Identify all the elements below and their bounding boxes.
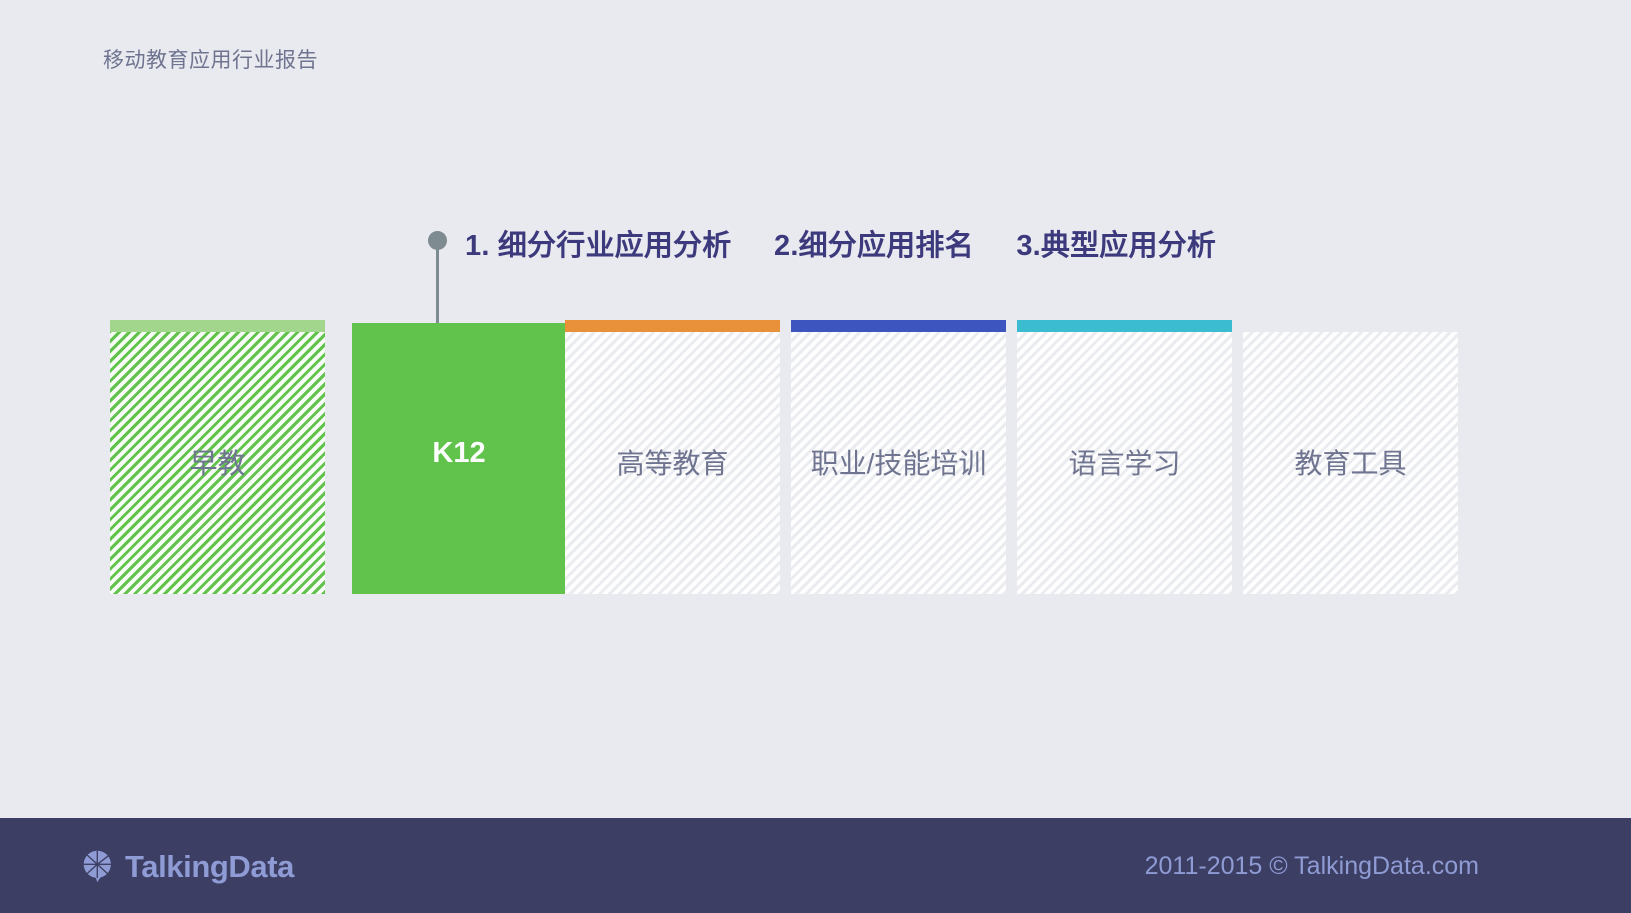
- card-accent-bar: [565, 320, 780, 332]
- card-label: 教育工具: [1243, 442, 1458, 482]
- category-card-education-tools[interactable]: 教育工具: [1243, 332, 1458, 594]
- card-accent-bar: [1017, 320, 1232, 332]
- card-accent-bar: [110, 320, 325, 332]
- talkingdata-logo: TalkingData: [82, 846, 294, 886]
- card-accent-bar: [791, 320, 1006, 332]
- category-card-vocational-training[interactable]: 职业/技能培训: [791, 332, 1006, 594]
- category-card-early-education[interactable]: 早教: [110, 332, 325, 594]
- card-label: 职业/技能培训: [791, 442, 1006, 482]
- slide-canvas: 移动教育应用行业报告 1. 细分行业应用分析 2.细分应用排名 3.典型应用分析…: [0, 0, 1631, 913]
- active-card-pointer: [428, 231, 452, 327]
- card-label: 高等教育: [565, 442, 780, 482]
- card-label: K12: [352, 437, 566, 470]
- pointer-stem: [436, 248, 439, 328]
- logo-wordmark: TalkingData: [125, 851, 294, 882]
- talkingdata-pie-bubble-icon: [82, 849, 116, 883]
- footer-bar: TalkingData 2011-2015 © TalkingData.com: [0, 818, 1631, 913]
- card-label: 早教: [110, 442, 325, 482]
- agenda-item-2: 2.细分应用排名: [774, 222, 974, 264]
- card-label: 语言学习: [1017, 442, 1232, 482]
- category-card-language-learning[interactable]: 语言学习: [1017, 332, 1232, 594]
- agenda-item-1: 1. 细分行业应用分析: [465, 222, 731, 264]
- category-card-higher-education[interactable]: 高等教育: [565, 332, 780, 594]
- agenda-headline: 1. 细分行业应用分析 2.细分应用排名 3.典型应用分析: [465, 222, 1216, 264]
- card-accent-bar: [1243, 320, 1458, 332]
- copyright-text: 2011-2015 © TalkingData.com: [1145, 852, 1479, 881]
- page-title: 移动教育应用行业报告: [103, 44, 318, 74]
- category-card-k12[interactable]: K12: [352, 323, 566, 594]
- agenda-item-3: 3.典型应用分析: [1016, 222, 1216, 264]
